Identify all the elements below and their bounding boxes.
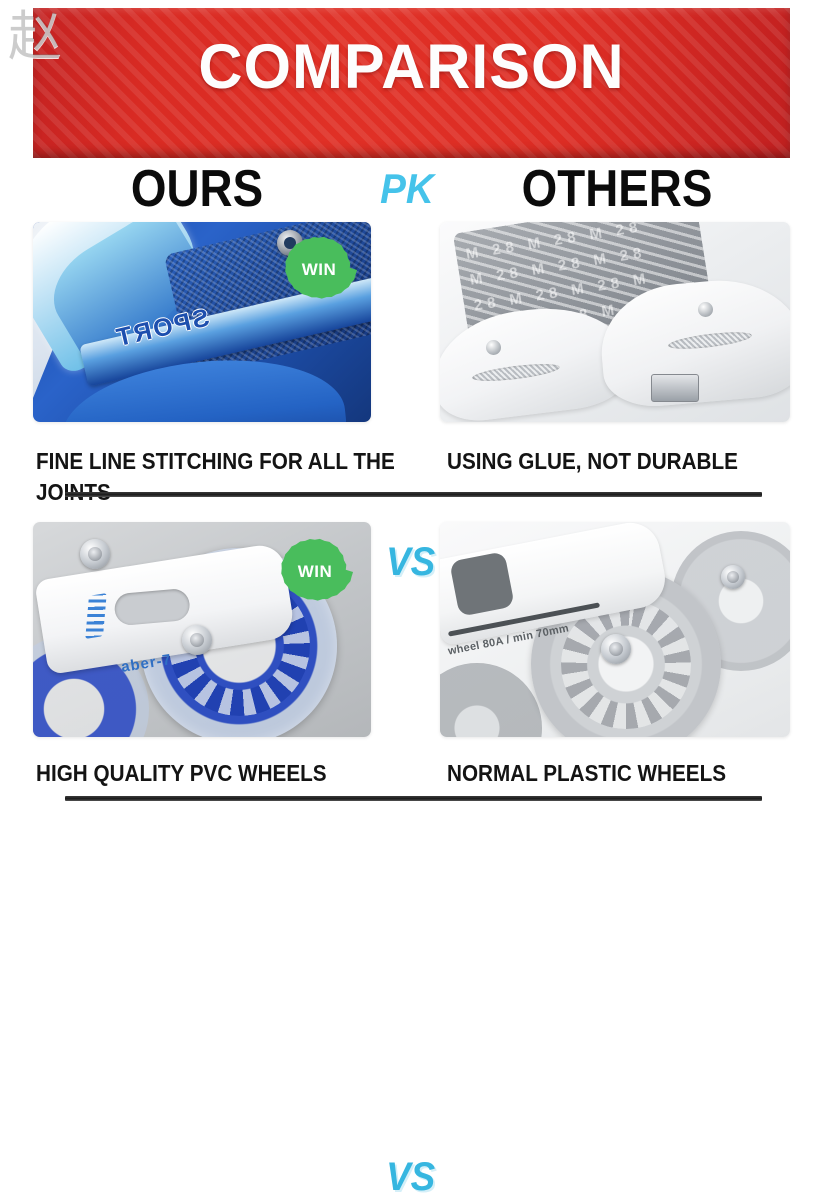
row1-others-image: M 28 M 28 M 28 M 28 M 28 M 28 28 M 28 M … [440,222,790,422]
boot-buckle [651,374,699,402]
row1-ours-caption: FINE LINE STITCHING FOR ALL THE JOINTS [36,446,423,508]
versus-label-row2: VS [386,1157,435,1197]
win-badge: WIN [281,232,357,308]
row2-divider [65,796,762,801]
row2-ours-image: aber-7 WIN [33,522,371,737]
page-title: COMPARISON [44,32,778,102]
boot-rivet-front [486,340,501,355]
row2-ours-caption: HIGH QUALITY PVC WHEELS [36,758,423,789]
frame-cutout-dark [449,552,515,618]
heading-others: OTHERS [485,161,749,217]
row1-ours-panel: SPORT WIN [33,222,371,422]
header-banner: COMPARISON [33,8,790,158]
row2-others-panel: wheel 80A / min 70mm [440,522,790,737]
row2-others-caption: NORMAL PLASTIC WHEELS [447,758,771,789]
versus-label-row1: VS [386,542,435,582]
wheel-bolt-rear [721,565,745,589]
wheel-bolt-center [182,625,212,655]
frame-cutout [113,588,191,627]
win-badge-label: WIN [298,562,333,582]
boot-rivet-rear [698,302,713,317]
row1-others-panel: M 28 M 28 M 28 M 28 M 28 M 28 28 M 28 M … [440,222,790,422]
row1-ours-image: SPORT WIN [33,222,371,422]
wheel-bolt-center [601,634,631,664]
heading-ours: OURS [65,161,329,217]
heading-pk: PK [352,161,462,217]
wheel-lower-grey [440,663,542,737]
win-badge-label: WIN [302,260,337,280]
win-badge: WIN [277,534,353,610]
row2-ours-panel: aber-7 WIN [33,522,371,737]
row2-others-image: wheel 80A / min 70mm [440,522,790,737]
wheel-bolt-upper [80,539,110,569]
comparison-heading-row: OURS PK OTHERS [0,160,814,218]
comparison-infographic: 赵 COMPARISON OURS PK OTHERS SPORT WIN [0,0,814,814]
row1-divider [65,492,762,497]
row1-others-caption: USING GLUE, NOT DURABLE [447,446,771,477]
